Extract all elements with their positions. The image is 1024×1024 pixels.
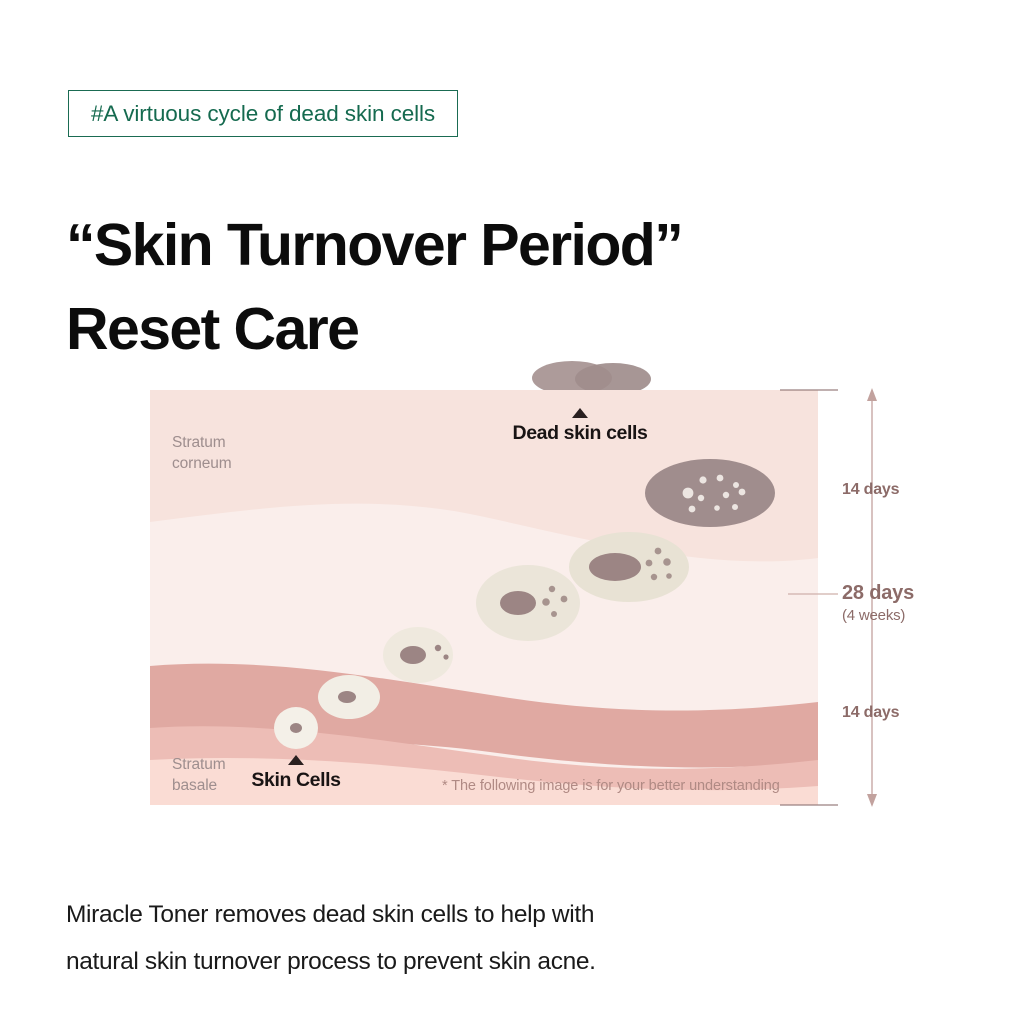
- headline-line-1: “Skin Turnover Period”: [66, 203, 926, 287]
- cell-3: [383, 627, 453, 683]
- callout-skin-cells-label: Skin Cells: [251, 769, 340, 791]
- body-line-1: Miracle Toner removes dead skin cells to…: [66, 891, 886, 938]
- callout-dead-skin-cells: Dead skin cells: [506, 408, 654, 445]
- skin-cross-section-diagram: [150, 390, 818, 805]
- hashtag-tag-box: #A virtuous cycle of dead skin cells: [68, 90, 458, 137]
- label-stratum-corneum-line2: corneum: [172, 455, 232, 472]
- cell-6-dead: [645, 459, 775, 527]
- cell-1-basal: [274, 707, 318, 749]
- label-stratum-basale-line1: Stratum: [172, 756, 226, 773]
- label-stratum-basale-line2: basale: [172, 777, 217, 794]
- label-stratum-corneum: Stratum corneum: [172, 433, 232, 474]
- turnover-timeline-axis: 14 days 28 days (4 weeks) 14 days: [780, 382, 970, 812]
- timeline-label-upper: 14 days: [842, 481, 899, 499]
- headline-line-2: Reset Care: [66, 287, 926, 371]
- arrowhead-down-icon: [867, 794, 877, 807]
- page-title: “Skin Turnover Period” Reset Care: [66, 203, 926, 372]
- timeline-label-total: 28 days: [842, 582, 914, 605]
- timeline-sublabel-weeks: (4 weeks): [842, 607, 905, 624]
- callout-skin-cells: Skin Cells: [236, 755, 356, 792]
- timeline-label-lower: 14 days: [842, 704, 899, 722]
- arrowhead-up-icon: [867, 388, 877, 401]
- cell-4: [476, 565, 580, 641]
- caret-up-icon: [572, 408, 588, 418]
- body-paragraph: Miracle Toner removes dead skin cells to…: [66, 891, 886, 985]
- cell-5: [569, 532, 689, 602]
- body-line-2: natural skin turnover process to prevent…: [66, 938, 886, 985]
- cell-2: [318, 675, 380, 719]
- label-stratum-basale: Stratum basale: [172, 755, 226, 796]
- callout-dead-skin-cells-label: Dead skin cells: [513, 422, 648, 444]
- hashtag-tag-label: #A virtuous cycle of dead skin cells: [91, 101, 435, 127]
- diagram-footnote: * The following image is for your better…: [442, 778, 780, 794]
- label-stratum-corneum-line1: Stratum: [172, 434, 226, 451]
- caret-up-icon: [288, 755, 304, 765]
